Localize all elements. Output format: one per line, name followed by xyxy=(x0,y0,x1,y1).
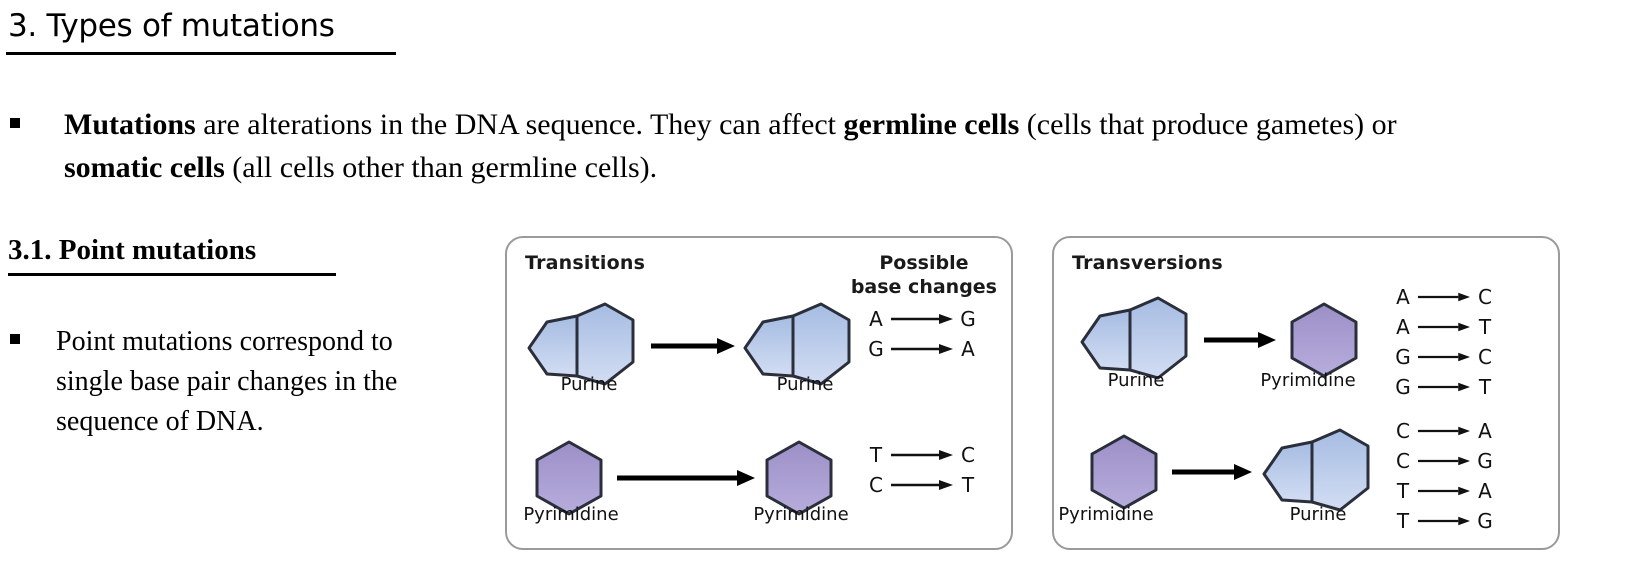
change-row: T G xyxy=(1394,506,1494,536)
change-from-base: C xyxy=(867,475,885,495)
change-to-base: T xyxy=(959,475,977,495)
panel-header-possible-base-changes: Possible base changes xyxy=(851,252,997,300)
transition-arrow-icon xyxy=(617,470,755,486)
pyrimidine-shape-icon xyxy=(1092,436,1156,508)
change-row: C T xyxy=(867,470,977,500)
transversion-row-2-changes: C A C G T A T xyxy=(1394,416,1494,536)
change-from-base: G xyxy=(867,339,885,359)
panel-title-transitions: Transitions xyxy=(525,252,645,274)
change-from-base: G xyxy=(1394,377,1412,397)
pyrimidine-shape-icon xyxy=(1292,304,1356,376)
panel-header-line-1: Possible xyxy=(851,252,997,276)
change-from-base: A xyxy=(867,309,885,329)
change-row: G C xyxy=(1394,342,1494,372)
change-from-base: T xyxy=(867,445,885,465)
square-bullet-icon xyxy=(10,118,20,128)
change-row: G T xyxy=(1394,372,1494,402)
change-to-base: A xyxy=(959,339,977,359)
transition-row-2-to-label: Pyrimidine xyxy=(745,504,857,525)
transversion-row-1-from-label: Purine xyxy=(1084,370,1188,391)
change-arrow-icon xyxy=(1418,424,1470,438)
transition-arrow-icon xyxy=(651,338,735,354)
change-to-base: G xyxy=(959,309,977,329)
intro-bullet-segment-3: (cells that produce gametes) or xyxy=(1019,108,1396,141)
change-to-base: C xyxy=(1476,347,1494,367)
transition-row-1-from-label: Purine xyxy=(541,374,637,395)
change-to-base: T xyxy=(1476,377,1494,397)
intro-bullet-text: Mutations are alterations in the DNA seq… xyxy=(64,104,1410,189)
change-to-base: G xyxy=(1476,511,1494,531)
change-from-base: T xyxy=(1394,481,1412,501)
transversion-row-2-from-label: Pyrimidine xyxy=(1048,504,1164,525)
square-bullet-icon xyxy=(10,334,20,344)
intro-bullet-segment-2: germline cells xyxy=(843,108,1019,141)
purine-shape-icon xyxy=(1264,430,1368,510)
change-row: C G xyxy=(1394,446,1494,476)
change-to-base: G xyxy=(1476,451,1494,471)
change-arrow-icon xyxy=(891,342,953,356)
intro-bullet-segment-1: are alterations in the DNA sequence. The… xyxy=(196,108,844,141)
panel-title-transversions: Transversions xyxy=(1072,252,1223,274)
purine-shape-icon xyxy=(1082,298,1186,378)
change-from-base: A xyxy=(1394,317,1412,337)
transition-row-1-changes: A G G A xyxy=(867,304,977,364)
transition-row-2-changes: T C C T xyxy=(867,440,977,500)
change-to-base: A xyxy=(1476,421,1494,441)
change-to-base: T xyxy=(1476,317,1494,337)
point-mutations-bullet-item: Point mutations correspond to single bas… xyxy=(10,322,460,442)
purine-shape-icon xyxy=(745,304,849,384)
change-row: T A xyxy=(1394,476,1494,506)
change-from-base: A xyxy=(1394,287,1412,307)
change-arrow-icon xyxy=(1418,380,1470,394)
section-subheading: 3.1. Point mutations xyxy=(8,234,256,267)
change-arrow-icon xyxy=(1418,514,1470,528)
intro-bullet-item: Mutations are alterations in the DNA seq… xyxy=(10,104,1410,189)
change-row: A C xyxy=(1394,282,1494,312)
change-row: A G xyxy=(867,304,977,334)
transversion-row-2-to-label: Purine xyxy=(1266,504,1370,525)
transition-row-1-to-label: Purine xyxy=(757,374,853,395)
change-arrow-icon xyxy=(1418,320,1470,334)
transversion-row-1-to-label: Pyrimidine xyxy=(1250,370,1366,391)
change-arrow-icon xyxy=(891,312,953,326)
change-from-base: T xyxy=(1394,511,1412,531)
intro-bullet-segment-0: Mutations xyxy=(64,108,196,141)
page-title: 3. Types of mutations xyxy=(8,8,335,44)
point-mutations-bullet-text: Point mutations correspond to single bas… xyxy=(56,322,460,442)
intro-bullet-segment-4: somatic cells xyxy=(64,151,225,184)
change-row: T C xyxy=(867,440,977,470)
change-from-base: G xyxy=(1394,347,1412,367)
change-arrow-icon xyxy=(891,448,953,462)
transversion-arrow-icon xyxy=(1172,464,1252,480)
panel-header-line-2: base changes xyxy=(851,276,997,300)
change-arrow-icon xyxy=(1418,454,1470,468)
purine-shape-icon xyxy=(529,304,633,384)
transversion-row-1-changes: A C A T G C G xyxy=(1394,282,1494,402)
intro-bullet-segment-5: (all cells other than germline cells). xyxy=(225,151,657,184)
change-to-base: C xyxy=(959,445,977,465)
transversion-arrow-icon xyxy=(1204,332,1276,348)
change-to-base: C xyxy=(1476,287,1494,307)
change-row: G A xyxy=(867,334,977,364)
figure-panel-transversions: Transversions Purine Pyrimidine xyxy=(1052,236,1560,550)
change-arrow-icon xyxy=(1418,290,1470,304)
section-subheading-underline xyxy=(8,273,336,276)
change-from-base: C xyxy=(1394,421,1412,441)
transition-row-2-from-label: Pyrimidine xyxy=(515,504,627,525)
figure-panel-transitions: Transitions Possible base changes xyxy=(505,236,1013,550)
change-arrow-icon xyxy=(1418,350,1470,364)
change-row: A T xyxy=(1394,312,1494,342)
change-row: C A xyxy=(1394,416,1494,446)
page-title-underline xyxy=(6,52,396,55)
change-arrow-icon xyxy=(1418,484,1470,498)
change-arrow-icon xyxy=(891,478,953,492)
change-from-base: C xyxy=(1394,451,1412,471)
change-to-base: A xyxy=(1476,481,1494,501)
